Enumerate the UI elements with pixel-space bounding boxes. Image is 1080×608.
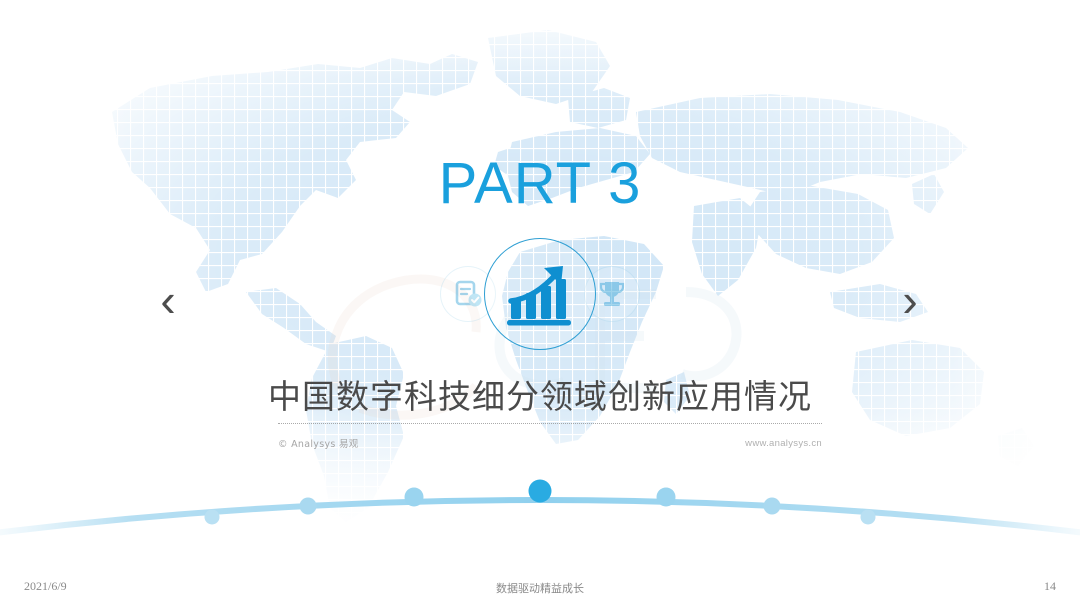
website-url: www.analysys.cn — [745, 438, 822, 449]
progress-dot[interactable] — [861, 510, 876, 525]
part-label: PART 3 — [0, 150, 1080, 217]
document-check-glyph — [451, 277, 485, 311]
progress-dot[interactable] — [764, 498, 781, 515]
footer-tagline: 数据驱动精益成长 — [0, 580, 1080, 596]
bar-chart-growth-icon — [484, 238, 596, 350]
copyright-credit: © Analysys 易观 — [278, 436, 359, 450]
progress-dot[interactable] — [405, 488, 424, 507]
trophy-glyph — [596, 278, 628, 310]
title-divider — [278, 423, 822, 425]
footer-page-number: 14 — [1044, 579, 1056, 594]
progress-dot-active[interactable] — [529, 480, 552, 503]
progress-dot[interactable] — [657, 488, 676, 507]
slide-canvas: ‹ › PART 3 — [0, 0, 1080, 608]
progress-dot[interactable] — [300, 498, 317, 515]
section-title: 中国数字科技细分领域创新应用情况 — [0, 370, 1080, 418]
bar-chart-growth-glyph — [503, 259, 577, 329]
progress-arc — [0, 462, 1080, 542]
icon-cluster — [0, 238, 1080, 350]
slide-footer: 2021/6/9 数据驱动精益成长 14 — [0, 568, 1080, 608]
progress-arc-svg — [0, 462, 1080, 542]
progress-dot[interactable] — [205, 510, 220, 525]
